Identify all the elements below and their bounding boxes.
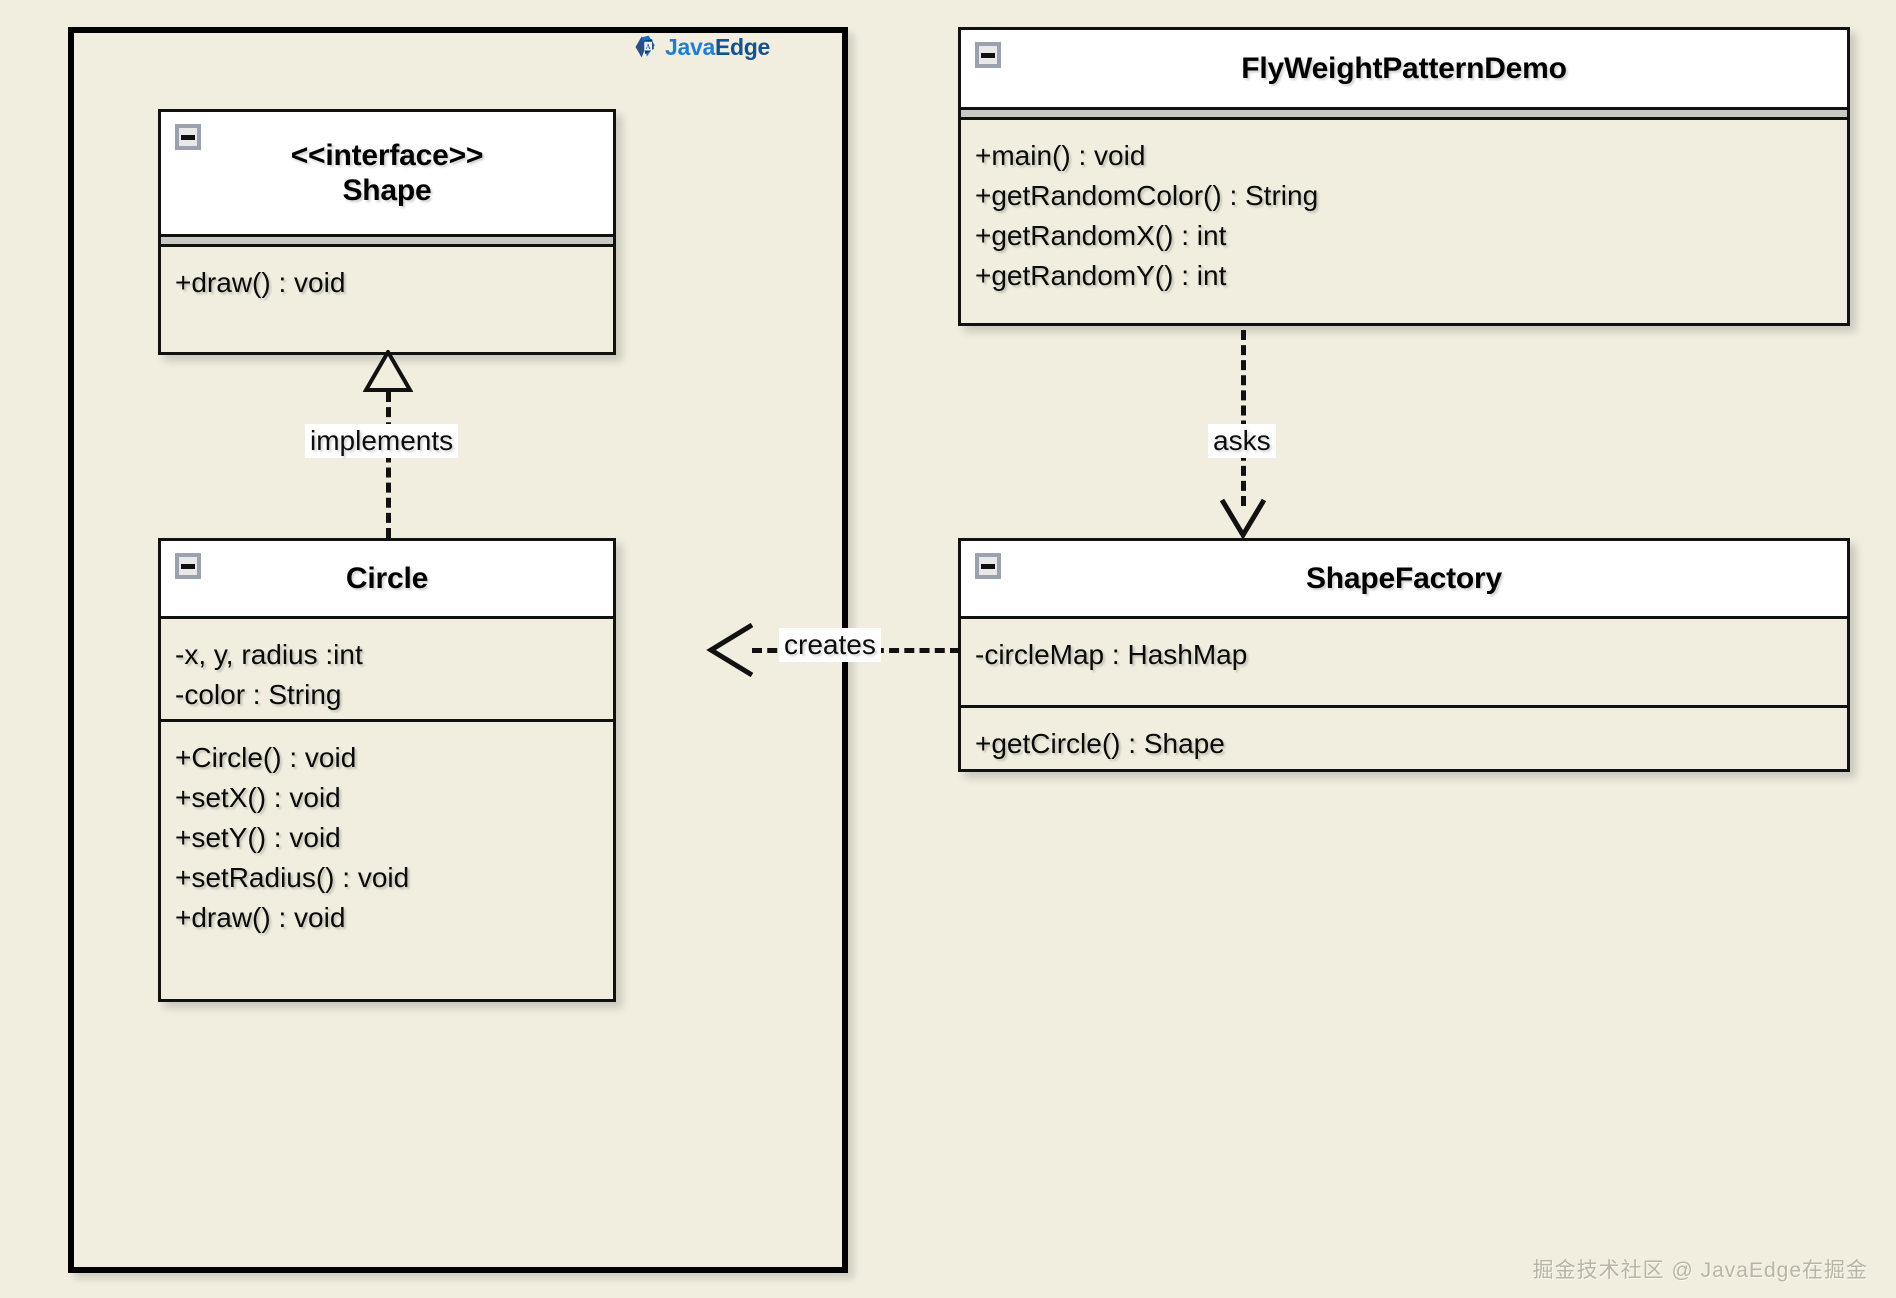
svg-text:A: A xyxy=(646,43,651,51)
member-row: +setX() : void xyxy=(175,778,599,818)
class-box-shape[interactable]: <<interface>> Shape +draw() : void xyxy=(158,109,616,355)
member-row: +getCircle() : Shape xyxy=(975,724,1833,764)
class-box-shapefactory[interactable]: ShapeFactory -circleMap : HashMap +getCi… xyxy=(958,538,1850,772)
javaedge-logo: A JavaEdge xyxy=(632,33,770,61)
dependency-arrowhead-icon xyxy=(1218,498,1268,538)
member-row: +draw() : void xyxy=(175,263,599,303)
attributes-compartment-circle: -x, y, radius :int -color : String xyxy=(161,619,613,719)
javaedge-logo-icon: A xyxy=(632,33,660,61)
member-row: +main() : void xyxy=(975,136,1833,176)
class-header-shape: <<interface>> Shape xyxy=(161,112,613,234)
operations-compartment-shapefactory: +getCircle() : Shape xyxy=(961,705,1847,769)
attributes-compartment-shapefactory: -circleMap : HashMap xyxy=(961,619,1847,705)
diagram-canvas: A JavaEdge <<interface>> Shape +draw() :… xyxy=(0,0,1896,1298)
member-row: +draw() : void xyxy=(175,898,599,938)
class-name-shapefactory: ShapeFactory xyxy=(1288,561,1520,596)
member-row: +getRandomY() : int xyxy=(975,256,1833,296)
relationship-label-asks: asks xyxy=(1208,424,1276,458)
class-name-flyweightpatterndemo: FlyWeightPatternDemo xyxy=(1223,51,1585,86)
class-name-shape: Shape xyxy=(342,174,431,207)
class-header-circle: Circle xyxy=(161,541,613,619)
relationship-label-creates: creates xyxy=(779,628,881,662)
relationship-label-implements: implements xyxy=(305,424,458,458)
class-header-flyweightpatterndemo: FlyWeightPatternDemo xyxy=(961,30,1847,107)
implements-connector-line xyxy=(386,392,391,538)
watermark-text: 掘金技术社区 @ JavaEdge在掘金 xyxy=(1533,1254,1868,1284)
dependency-arrowhead-icon xyxy=(706,622,754,678)
member-row: -x, y, radius :int xyxy=(175,635,599,675)
member-row: +getRandomColor() : String xyxy=(975,176,1833,216)
minus-box-icon[interactable] xyxy=(975,42,1001,68)
member-row: +Circle() : void xyxy=(175,738,599,778)
operations-compartment-flyweightpatterndemo: +main() : void +getRandomColor() : Strin… xyxy=(961,120,1847,323)
member-row: +setY() : void xyxy=(175,818,599,858)
operations-compartment-shape: +draw() : void xyxy=(161,247,613,352)
class-title-shape: <<interface>> Shape xyxy=(273,138,502,209)
minus-box-icon[interactable] xyxy=(975,553,1001,579)
minus-box-icon[interactable] xyxy=(175,553,201,579)
logo-text-dark: Edge xyxy=(715,34,770,60)
operations-compartment-circle: +Circle() : void +setX() : void +setY() … xyxy=(161,719,613,999)
member-row: +getRandomX() : int xyxy=(975,216,1833,256)
class-box-circle[interactable]: Circle -x, y, radius :int -color : Strin… xyxy=(158,538,616,1002)
logo-text: JavaEdge xyxy=(665,34,770,61)
class-stereotype-shape: <<interface>> xyxy=(291,138,484,173)
minus-box-icon[interactable] xyxy=(175,124,201,150)
logo-text-light: Java xyxy=(665,34,715,60)
member-row: +setRadius() : void xyxy=(175,858,599,898)
class-header-shapefactory: ShapeFactory xyxy=(961,541,1847,619)
class-separator xyxy=(961,107,1847,120)
asks-connector-line xyxy=(1241,330,1246,506)
class-name-circle: Circle xyxy=(328,561,446,596)
member-row: -circleMap : HashMap xyxy=(975,635,1833,675)
member-row: -color : String xyxy=(175,675,599,715)
class-box-flyweightpatterndemo[interactable]: FlyWeightPatternDemo +main() : void +get… xyxy=(958,27,1850,326)
generalization-arrowhead-icon xyxy=(363,350,413,392)
interface-separator xyxy=(161,234,613,247)
